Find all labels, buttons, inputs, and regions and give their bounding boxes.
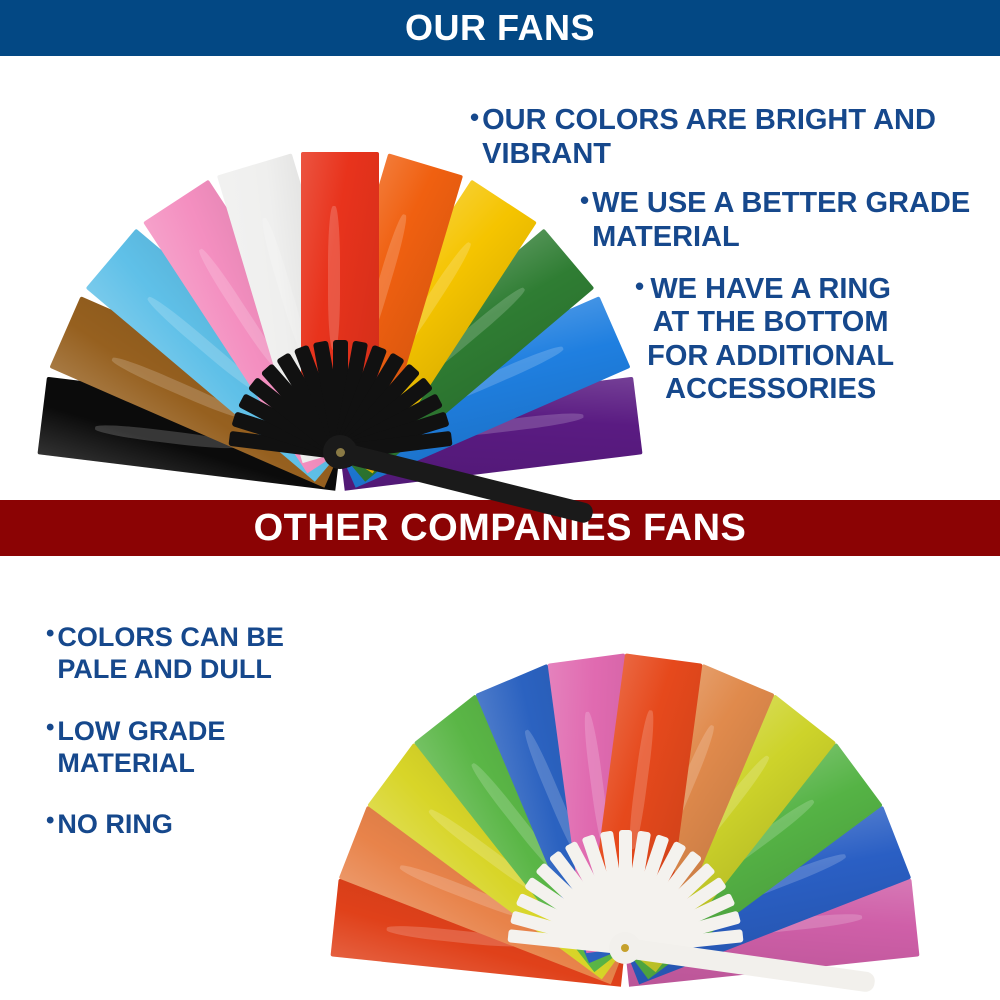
bullet-dot-icon: •: [635, 273, 644, 408]
other-companies-fans-title: OTHER COMPANIES FANS: [254, 507, 747, 550]
bullet-text: LOW GRADE MATERIAL: [57, 716, 225, 780]
bullet-text: WE HAVE A RING AT THE BOTTOM FOR ADDITIO…: [647, 273, 894, 408]
bullet-dot-icon: •: [46, 716, 54, 780]
bullet-item: • WE USE A BETTER GRADE MATERIAL: [580, 187, 990, 254]
bullet-text: NO RING: [57, 809, 173, 841]
bullet-dot-icon: •: [46, 809, 54, 841]
bullet-dot-icon: •: [46, 622, 54, 686]
our-fans-header-bar: OUR FANS: [0, 0, 1000, 56]
bullet-item: • OUR COLORS ARE BRIGHT AND VIBRANT: [470, 104, 990, 171]
fan-rivet: [621, 944, 629, 952]
bullet-dot-icon: •: [470, 104, 479, 171]
bullet-text: COLORS CAN BE PALE AND DULL: [57, 622, 284, 686]
bullet-text: WE USE A BETTER GRADE MATERIAL: [592, 187, 970, 254]
bullet-item: • WE HAVE A RING AT THE BOTTOM FOR ADDIT…: [635, 273, 990, 408]
bullet-dot-icon: •: [580, 187, 589, 254]
bullet-text: OUR COLORS ARE BRIGHT AND VIBRANT: [482, 104, 936, 171]
comparison-infographic: OUR FANS • OUR COLORS ARE BRIGHT AND VIB…: [0, 0, 1000, 1000]
fan-rivet: [336, 448, 345, 457]
our-fans-title: OUR FANS: [405, 7, 595, 49]
other-companies-fan-image: [285, 580, 965, 970]
blade-highlight: [328, 206, 340, 350]
other-companies-fans-header-bar: OTHER COMPANIES FANS: [0, 500, 1000, 556]
